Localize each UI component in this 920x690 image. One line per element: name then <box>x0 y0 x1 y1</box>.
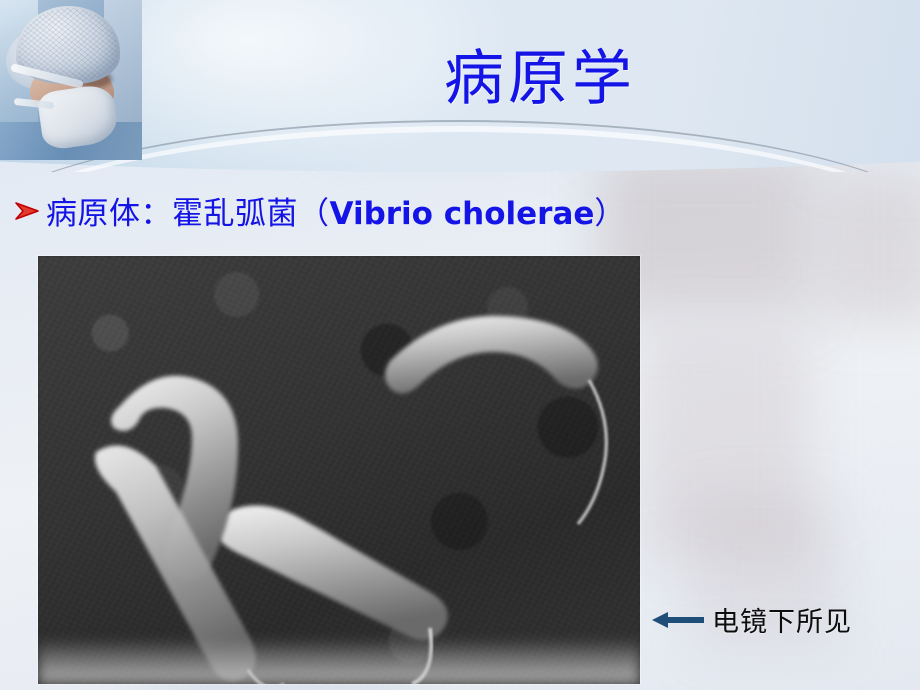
bullet-text-cn-lead: 病原体：霍乱弧菌（ <box>46 196 330 232</box>
figure-caption: 电镜下所见 <box>712 600 852 639</box>
slide-root: 病原学 病原体：霍乱弧菌（Vibrio cholerae） <box>0 0 920 690</box>
surgeon-photo <box>0 0 142 160</box>
organism-cell-middle <box>213 505 448 639</box>
background-blob <box>820 170 920 320</box>
bullet-text: 病原体：霍乱弧菌（Vibrio cholerae） <box>46 188 626 233</box>
page-title: 病原学 <box>300 48 780 111</box>
micrograph-organisms <box>38 256 640 684</box>
electron-micrograph-image <box>38 256 640 684</box>
figure-annotation: 电镜下所见 <box>652 600 852 639</box>
left-arrow-icon <box>652 609 704 631</box>
bullet-text-cn-tail: ） <box>594 196 626 232</box>
background-blob <box>640 330 810 560</box>
flagellum-top-right <box>578 380 606 524</box>
photo-overlay <box>0 0 142 160</box>
bullet-text-latin: Vibrio cholerae <box>330 196 595 232</box>
micrograph-bottom-band <box>38 638 640 684</box>
organism-cell-top-right <box>385 316 598 394</box>
bullet-line: 病原体：霍乱弧菌（Vibrio cholerae） <box>12 188 626 233</box>
red-arrow-bullet-icon <box>12 196 42 226</box>
